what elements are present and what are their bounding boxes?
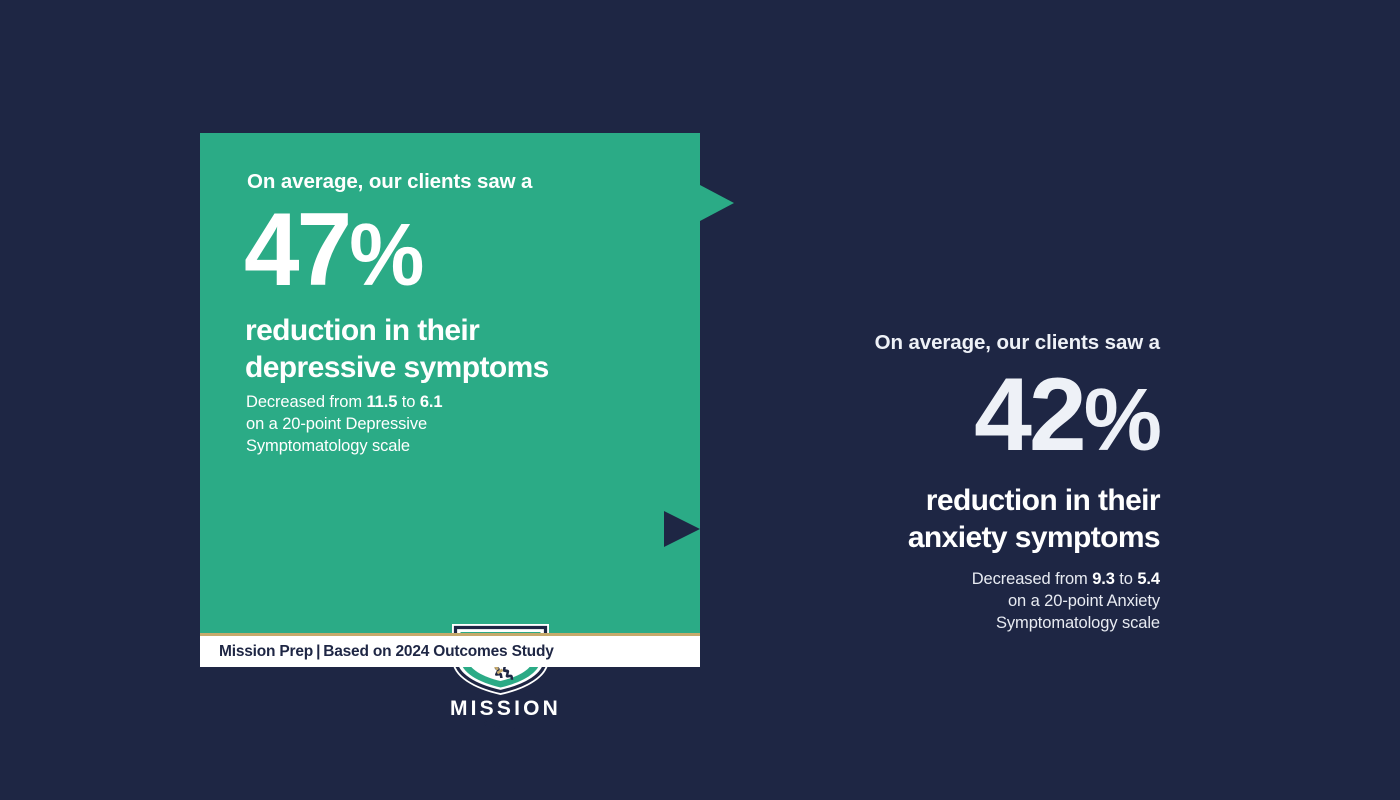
- detail-from-value: 11.5: [366, 393, 397, 411]
- detail-prefix: Decreased from: [246, 393, 366, 411]
- depression-detail-line3: Symptomatology scale: [246, 436, 442, 458]
- right-detail-mid: to: [1115, 570, 1138, 588]
- right-eyebrow-text: On average, our clients saw a: [760, 330, 1160, 357]
- anxiety-stat-block: On average, our clients saw a 42% reduct…: [760, 330, 1160, 635]
- depression-detail-line1: Decreased from 11.5 to 6.1: [246, 392, 442, 414]
- depression-subhead: reduction in their depressive symptoms: [245, 313, 549, 387]
- depression-stat-card: On average, our clients saw a 47% reduct…: [200, 133, 700, 667]
- card-eyebrow-text: On average, our clients saw a: [247, 170, 532, 194]
- anxiety-stat-value: 42: [974, 357, 1084, 473]
- card-pointer-top-icon: [700, 185, 734, 221]
- depression-detail-line2: on a 20-point Depressive: [246, 414, 442, 436]
- card-footer-text: Mission Prep|Based on 2024 Outcomes Stud…: [219, 643, 554, 661]
- detail-mid: to: [397, 393, 420, 411]
- logo-wordmark-prep: PREP: [443, 718, 568, 734]
- depression-stat-number: 47%: [244, 198, 423, 302]
- depression-detail-text: Decreased from 11.5 to 6.1 on a 20-point…: [246, 392, 442, 458]
- percent-symbol: %: [349, 205, 422, 304]
- anxiety-detail-text: Decreased from 9.3 to 5.4 on a 20-point …: [760, 569, 1160, 635]
- card-body: On average, our clients saw a 47% reduct…: [200, 133, 700, 633]
- anxiety-stat-number: 42%: [760, 363, 1160, 467]
- anxiety-subhead-line1: reduction in their: [760, 483, 1160, 520]
- anxiety-subhead-line2: anxiety symptoms: [760, 520, 1160, 557]
- anxiety-detail-line1: Decreased from 9.3 to 5.4: [760, 569, 1160, 591]
- card-footer-bar: Mission Prep|Based on 2024 Outcomes Stud…: [200, 633, 700, 667]
- depression-subhead-line2: depressive symptoms: [245, 350, 549, 387]
- anxiety-detail-line2: on a 20-point Anxiety: [760, 591, 1160, 613]
- infographic-canvas: On average, our clients saw a 47% reduct…: [0, 0, 1400, 800]
- percent-symbol-right: %: [1084, 370, 1160, 469]
- footer-source: Based on 2024 Outcomes Study: [323, 643, 553, 660]
- right-detail-prefix: Decreased from: [972, 570, 1092, 588]
- right-detail-from-value: 9.3: [1092, 570, 1115, 588]
- card-notch-bottom-icon: [664, 511, 700, 547]
- footer-brand: Mission Prep: [219, 643, 313, 660]
- depression-stat-value: 47: [244, 192, 349, 308]
- anxiety-subhead: reduction in their anxiety symptoms: [760, 483, 1160, 557]
- detail-to-value: 6.1: [420, 393, 443, 411]
- footer-separator: |: [313, 643, 323, 660]
- right-detail-to-value: 5.4: [1137, 570, 1160, 588]
- anxiety-detail-line3: Symptomatology scale: [760, 613, 1160, 635]
- depression-subhead-line1: reduction in their: [245, 313, 549, 350]
